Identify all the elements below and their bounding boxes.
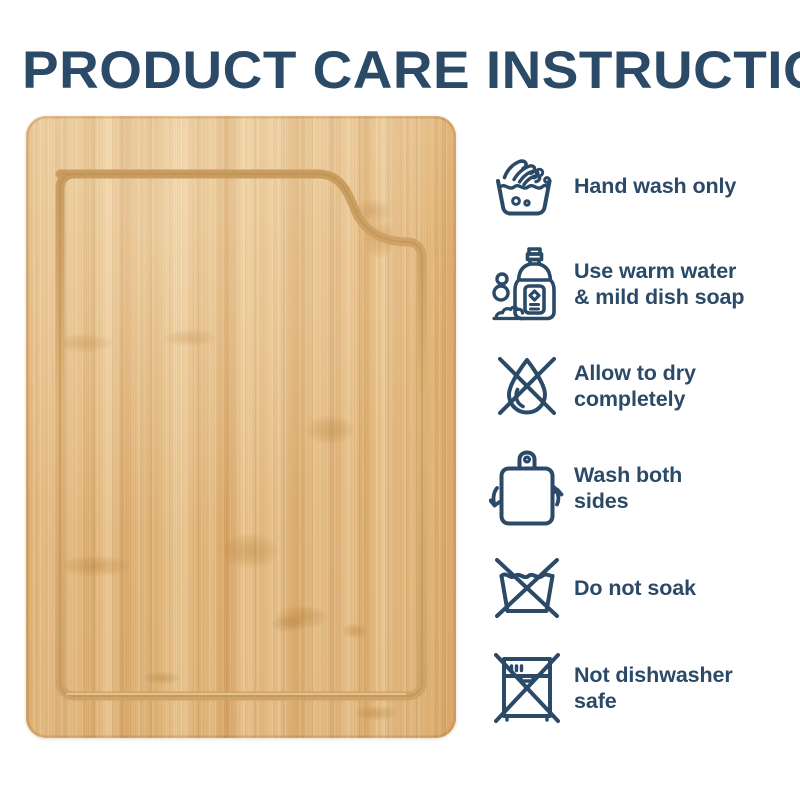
care-item-do-not-soak: Do not soak (484, 540, 794, 636)
no-water-drop-icon (484, 351, 570, 421)
care-item-allow-to-dry: Allow to dry completely (484, 336, 794, 436)
no-soak-tub-icon (484, 554, 570, 622)
juice-groove (26, 116, 456, 738)
care-item-label: Allow to dry completely (570, 360, 696, 412)
dish-soap-bottle-icon (484, 245, 570, 323)
care-instruction-page: PRODUCT CARE INSTRUCTION (0, 0, 800, 800)
care-item-label: Wash both sides (570, 462, 682, 514)
care-item-dish-soap: Use warm water & mild dish soap (484, 232, 794, 336)
page-title: PRODUCT CARE INSTRUCTION (22, 44, 800, 98)
care-item-wash-both-sides: Wash both sides (484, 436, 794, 540)
cutting-board-body (26, 116, 456, 738)
care-item-label: Not dishwasher safe (570, 662, 733, 714)
care-item-label: Do not soak (570, 575, 696, 601)
care-item-label: Use warm water & mild dish soap (570, 258, 744, 310)
cutting-board-flip-icon (484, 448, 570, 528)
no-dishwasher-icon (484, 650, 570, 726)
care-item-hand-wash: Hand wash only (484, 140, 794, 232)
product-image-bamboo-cutting-board (26, 116, 456, 738)
care-item-label: Hand wash only (570, 173, 736, 199)
hand-wash-icon (484, 155, 570, 217)
care-instruction-list: Hand wash only (484, 140, 794, 740)
care-item-not-dishwasher-safe: Not dishwasher safe (484, 636, 794, 740)
